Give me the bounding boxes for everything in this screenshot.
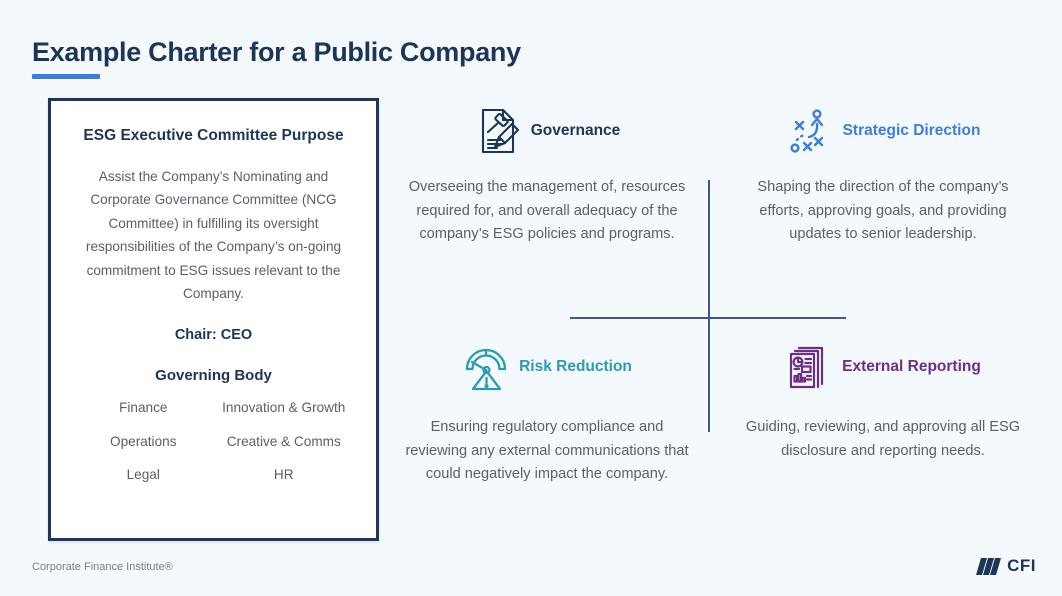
report-documents-icon <box>785 342 833 392</box>
quadrant-header: Risk Reduction <box>392 336 702 398</box>
strategy-playbook-icon <box>786 106 834 156</box>
governing-body-grid: Finance Innovation & Growth Operations C… <box>73 398 354 484</box>
quadrant-header: Governance <box>392 100 702 162</box>
chair-label: Chair: CEO <box>73 327 354 343</box>
cfi-wordmark: CFI <box>1007 556 1036 576</box>
governing-body-cell: Finance <box>73 398 214 417</box>
governing-body-cell: Operations <box>73 432 214 451</box>
governing-body-heading: Governing Body <box>73 367 354 384</box>
cfi-bars-icon <box>976 558 1002 575</box>
footer-attribution: Corporate Finance Institute® <box>32 561 173 573</box>
purpose-card-body: Assist the Company’s Nominating and Corp… <box>73 165 354 305</box>
quadrant-external-reporting: External Reporting Guiding, reviewing, a… <box>728 336 1038 463</box>
quadrant-label: External Reporting <box>842 358 981 376</box>
document-gavel-icon <box>474 106 522 156</box>
quadrant-header: Strategic Direction <box>728 100 1038 162</box>
quadrant-divider-vertical <box>708 180 710 432</box>
quadrant-label: Strategic Direction <box>843 122 981 140</box>
quadrant-divider-horizontal <box>570 317 846 319</box>
purpose-card-heading: ESG Executive Committee Purpose <box>73 127 354 145</box>
quadrant-governance: Governance Overseeing the management of,… <box>392 100 702 247</box>
quadrant-strategic-direction: Strategic Direction Shaping the directio… <box>728 100 1038 247</box>
governing-body-cell: HR <box>214 465 355 484</box>
title-underline-accent <box>32 74 100 79</box>
quadrant-header: External Reporting <box>728 336 1038 398</box>
quadrant-group: Governance Overseeing the management of,… <box>392 100 1038 530</box>
page-title: Example Charter for a Public Company <box>32 38 521 68</box>
esg-purpose-card: ESG Executive Committee Purpose Assist t… <box>48 98 379 541</box>
gauge-warning-icon <box>462 342 510 392</box>
quadrant-risk-reduction: Risk Reduction Ensuring regulatory compl… <box>392 336 702 487</box>
quadrant-description: Shaping the direction of the company’s e… <box>728 176 1038 247</box>
quadrant-description: Ensuring regulatory compliance and revie… <box>392 416 702 487</box>
quadrant-description: Guiding, reviewing, and approving all ES… <box>728 416 1038 463</box>
quadrant-label: Governance <box>531 122 621 140</box>
governing-body-cell: Creative & Comms <box>214 432 355 451</box>
page-title-block: Example Charter for a Public Company <box>32 38 521 79</box>
quadrant-description: Overseeing the management of, resources … <box>392 176 702 247</box>
cfi-logo: CFI <box>976 556 1036 576</box>
quadrant-label: Risk Reduction <box>519 358 632 376</box>
governing-body-cell: Legal <box>73 465 214 484</box>
governing-body-cell: Innovation & Growth <box>214 398 355 417</box>
